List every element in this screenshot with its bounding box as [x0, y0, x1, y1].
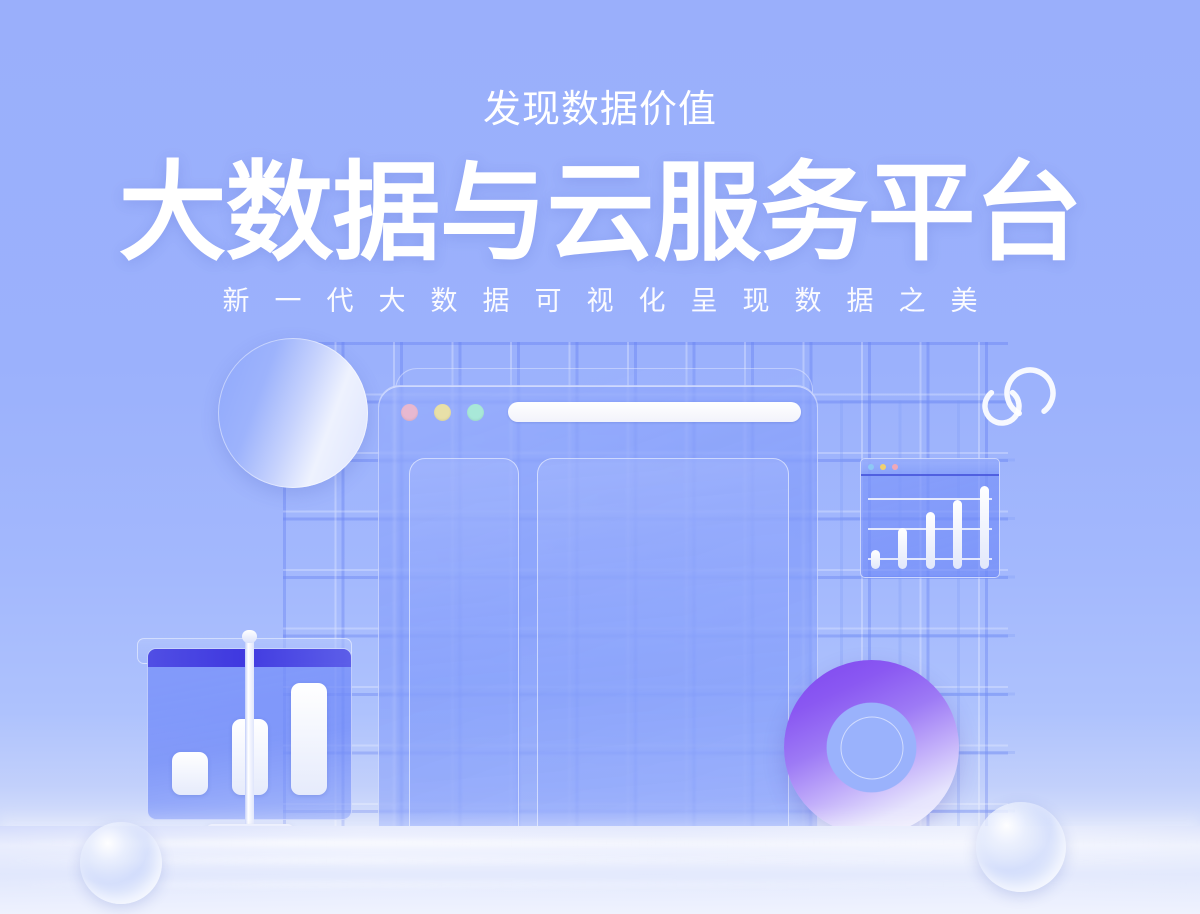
card-dot-blue — [868, 464, 874, 470]
browser-titlebar — [379, 386, 817, 438]
board-stand-cap — [242, 630, 257, 643]
chart-bar — [980, 486, 989, 569]
hero-tagline: 新一代大数据可视化呈现数据之美 — [0, 285, 1200, 317]
minimize-dot[interactable] — [434, 404, 451, 421]
glass-disc — [218, 338, 368, 488]
address-bar-input[interactable] — [508, 402, 801, 422]
board-stand-pole — [245, 636, 254, 832]
page-title: 大数据与云服务平台 — [0, 156, 1200, 269]
glass-sphere-left — [80, 822, 162, 904]
hero-copy: 发现数据价值 大数据与云服务平台 新一代大数据可视化呈现数据之美 — [0, 88, 1200, 317]
close-dot[interactable] — [401, 404, 418, 421]
dashboard-card-titlebar — [861, 459, 999, 476]
sidebar-pane — [409, 458, 519, 830]
chart-bar — [898, 528, 907, 569]
chart-bar — [291, 683, 327, 795]
chart-bar — [871, 550, 880, 569]
maximize-dot[interactable] — [467, 404, 484, 421]
hero-eyebrow: 发现数据价值 — [0, 88, 1200, 134]
glass-sphere-right — [976, 802, 1066, 892]
chart-bar — [953, 500, 962, 569]
cloud-outline-icon — [975, 363, 1065, 433]
browser-window-mockup — [378, 385, 818, 830]
donut-ring-hole — [840, 716, 903, 779]
dashboard-card[interactable] — [860, 458, 1000, 578]
dashboard-card-chart — [861, 476, 999, 577]
chart-bar — [926, 512, 935, 569]
card-dot-yellow — [880, 464, 886, 470]
hero-banner: 发现数据价值 大数据与云服务平台 新一代大数据可视化呈现数据之美 — [0, 0, 1200, 914]
card-dot-pink — [892, 464, 898, 470]
content-pane — [537, 458, 789, 830]
chart-bar-group — [871, 484, 989, 569]
chart-bar — [172, 752, 208, 795]
